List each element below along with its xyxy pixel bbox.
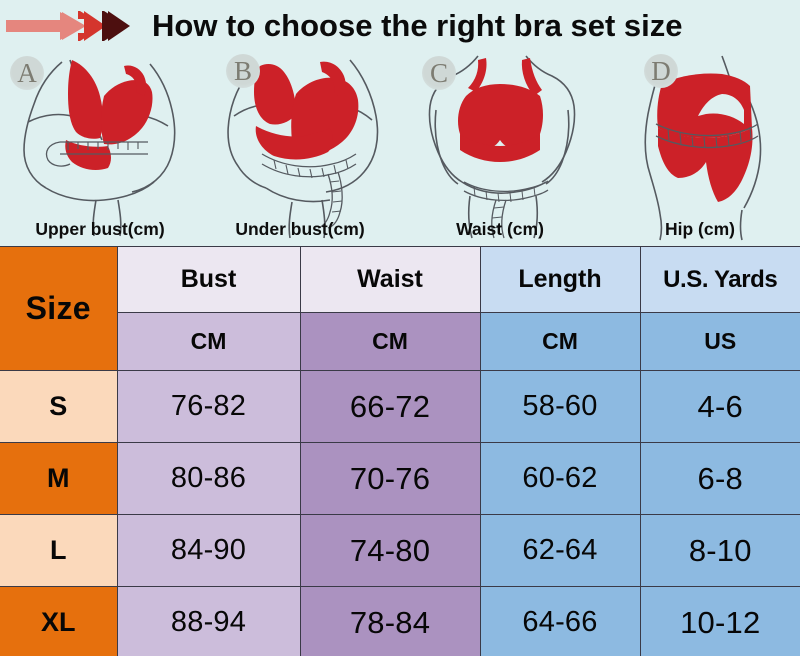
cell-length-l: 62-64 xyxy=(480,515,640,587)
badge-letter-d: D xyxy=(644,54,678,88)
size-chart-page: How to choose the right bra set size xyxy=(0,0,800,656)
illustration-under-bust: B Under bust(cm) xyxy=(200,50,400,246)
illustration-row: A Upper bust(cm) xyxy=(0,50,800,246)
illustration-waist: C Waist (cm) xyxy=(400,50,600,246)
illustration-label-under-bust: Under bust(cm) xyxy=(200,219,400,240)
illustration-label-waist: Waist (cm) xyxy=(400,219,600,240)
cell-bust-l: 84-90 xyxy=(117,515,300,587)
unit-waist: CM xyxy=(300,313,480,371)
hip-measure-icon xyxy=(600,50,800,246)
unit-us: US xyxy=(640,313,800,371)
unit-bust: CM xyxy=(117,313,300,371)
header-us-yards: U.S. Yards xyxy=(640,247,800,313)
table-header-row-names: Size Bust Waist Length U.S. Yards xyxy=(0,247,800,313)
row-size-l: L xyxy=(0,515,117,587)
illustration-hip: D Hip (cm) xyxy=(600,50,800,246)
badge-letter-b: B xyxy=(226,54,260,88)
size-table: Size Bust Waist Length U.S. Yards CM CM … xyxy=(0,246,800,656)
cell-yards-s: 4-6 xyxy=(640,371,800,443)
cell-yards-m: 6-8 xyxy=(640,443,800,515)
table-row: M 80-86 70-76 60-62 6-8 xyxy=(0,443,800,515)
badge-letter-c: C xyxy=(422,56,456,90)
table-row: S 76-82 66-72 58-60 4-6 xyxy=(0,371,800,443)
badge-letter-a: A xyxy=(10,56,44,90)
cell-bust-s: 76-82 xyxy=(117,371,300,443)
cell-length-xl: 64-66 xyxy=(480,587,640,656)
title-banner: How to choose the right bra set size xyxy=(0,0,800,52)
unit-length: CM xyxy=(480,313,640,371)
cell-length-m: 60-62 xyxy=(480,443,640,515)
header-waist: Waist xyxy=(300,247,480,313)
table-header-row-units: CM CM CM US xyxy=(0,313,800,371)
page-title: How to choose the right bra set size xyxy=(152,8,683,44)
cell-waist-s: 66-72 xyxy=(300,371,480,443)
row-size-xl: XL xyxy=(0,587,117,656)
cell-waist-l: 74-80 xyxy=(300,515,480,587)
header-size: Size xyxy=(0,247,117,371)
cell-yards-xl: 10-12 xyxy=(640,587,800,656)
cell-length-s: 58-60 xyxy=(480,371,640,443)
illustration-label-hip: Hip (cm) xyxy=(600,219,800,240)
cell-yards-l: 8-10 xyxy=(640,515,800,587)
header-bust: Bust xyxy=(117,247,300,313)
header-length: Length xyxy=(480,247,640,313)
cell-bust-xl: 88-94 xyxy=(117,587,300,656)
cell-bust-m: 80-86 xyxy=(117,443,300,515)
cell-waist-xl: 78-84 xyxy=(300,587,480,656)
row-size-m: M xyxy=(0,443,117,515)
row-size-s: S xyxy=(0,371,117,443)
table-row: L 84-90 74-80 62-64 8-10 xyxy=(0,515,800,587)
table-row: XL 88-94 78-84 64-66 10-12 xyxy=(0,587,800,656)
illustration-label-upper-bust: Upper bust(cm) xyxy=(0,219,200,240)
triple-arrow-icon xyxy=(0,6,152,46)
illustration-upper-bust: A Upper bust(cm) xyxy=(0,50,200,246)
cell-waist-m: 70-76 xyxy=(300,443,480,515)
